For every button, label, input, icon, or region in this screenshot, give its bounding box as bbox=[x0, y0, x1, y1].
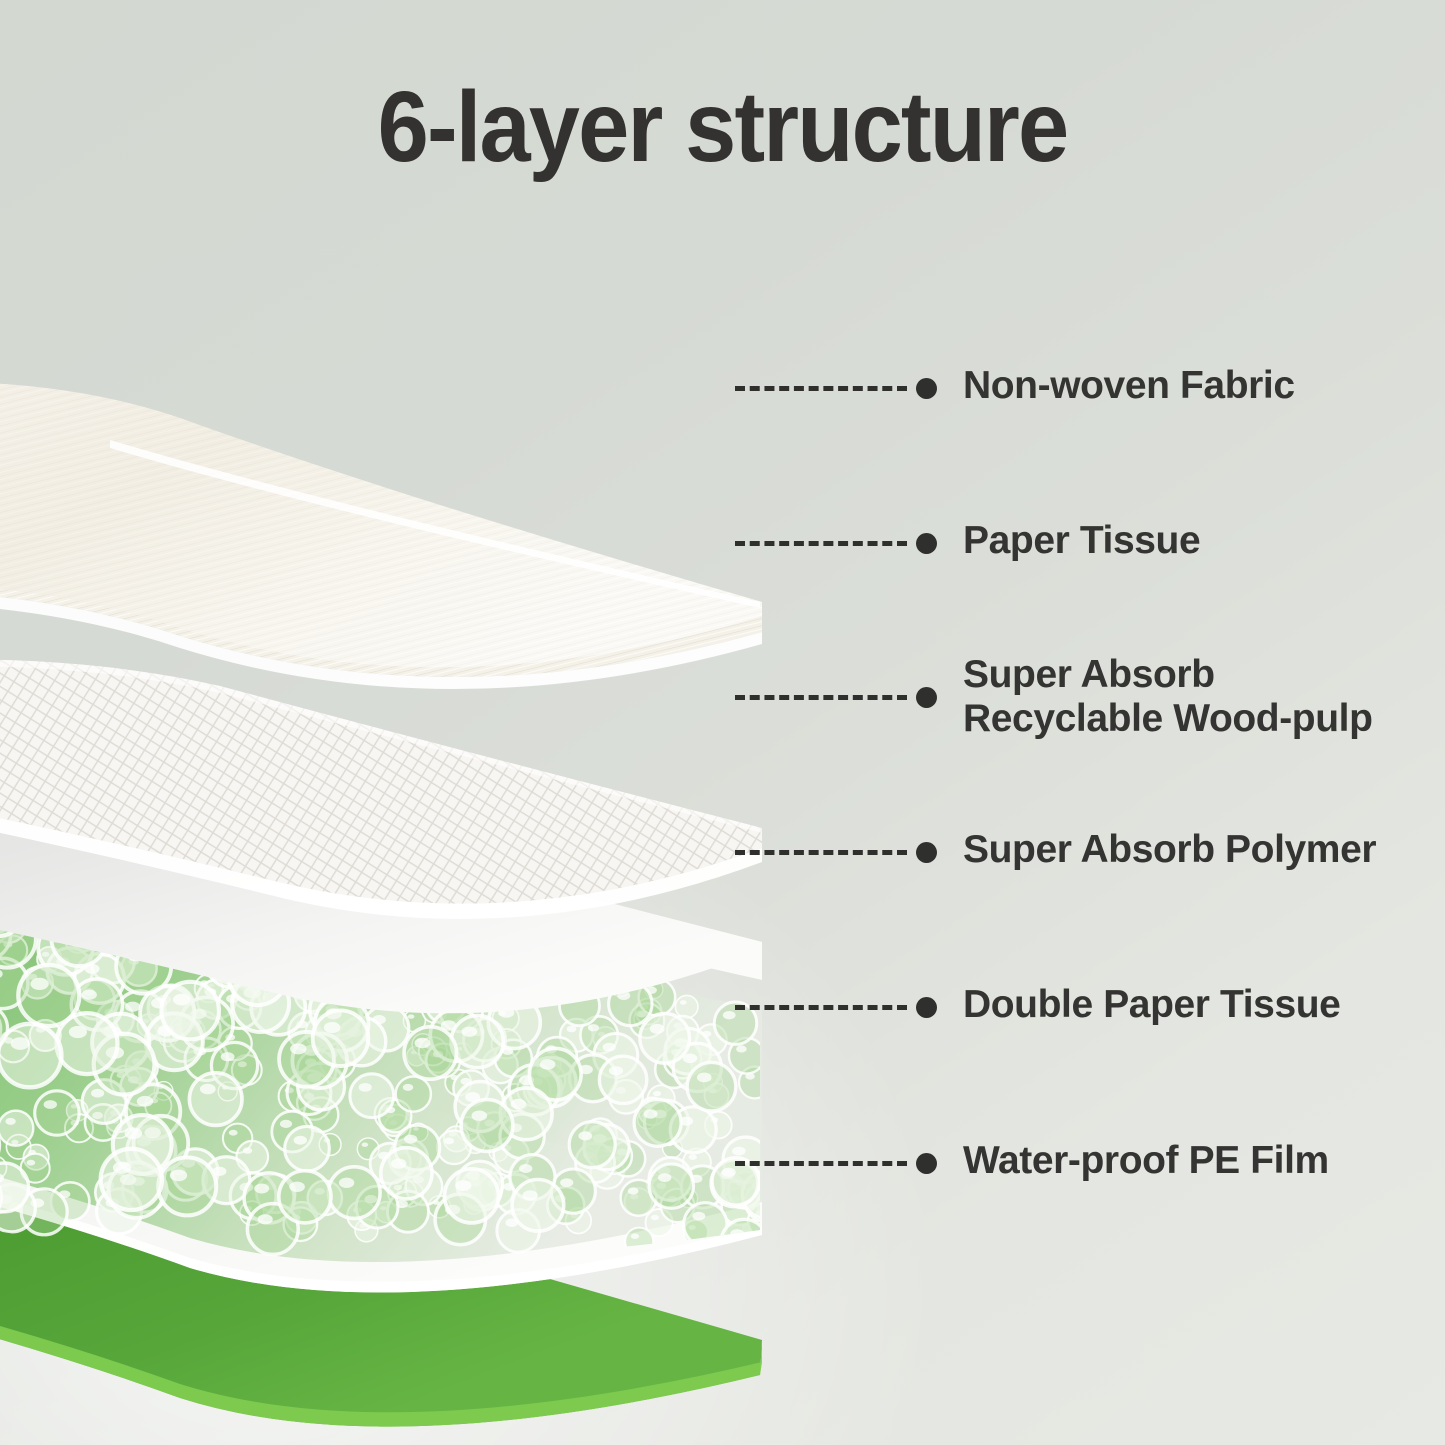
leader-line bbox=[735, 1161, 907, 1166]
leader-line bbox=[735, 850, 907, 855]
leader-line bbox=[735, 1005, 907, 1010]
layer-label-3-wrapper: Super AbsorbRecyclable Wood-pulp bbox=[963, 653, 1373, 740]
leader-dot-icon bbox=[916, 687, 937, 708]
leader-line bbox=[735, 695, 907, 700]
layer-non-woven-fabric bbox=[0, 382, 762, 689]
leader-dot-icon bbox=[916, 378, 937, 399]
layer-label-6: Water-proof PE Film bbox=[963, 1139, 1329, 1183]
layer-label-4: Super Absorb Polymer bbox=[963, 828, 1376, 872]
leader-line bbox=[735, 386, 907, 391]
leader-line bbox=[735, 541, 907, 546]
layer-label-5: Double Paper Tissue bbox=[963, 983, 1340, 1027]
leader-dot-icon bbox=[916, 842, 937, 863]
product-structure-infographic: 6-layer structure bbox=[0, 0, 1445, 1445]
layer-label-3-line2: Recyclable Wood-pulp bbox=[963, 697, 1373, 741]
leader-dot-icon bbox=[916, 997, 937, 1018]
layer-stack-illustration bbox=[0, 250, 810, 1445]
leader-dot-icon bbox=[916, 1153, 937, 1174]
leader-dot-icon bbox=[916, 533, 937, 554]
page-title: 6-layer structure bbox=[58, 74, 1387, 180]
layer-label-3-line1: Super Absorb bbox=[963, 653, 1215, 696]
layer-label-2: Paper Tissue bbox=[963, 519, 1200, 563]
layer-label-1: Non-woven Fabric bbox=[963, 364, 1295, 408]
